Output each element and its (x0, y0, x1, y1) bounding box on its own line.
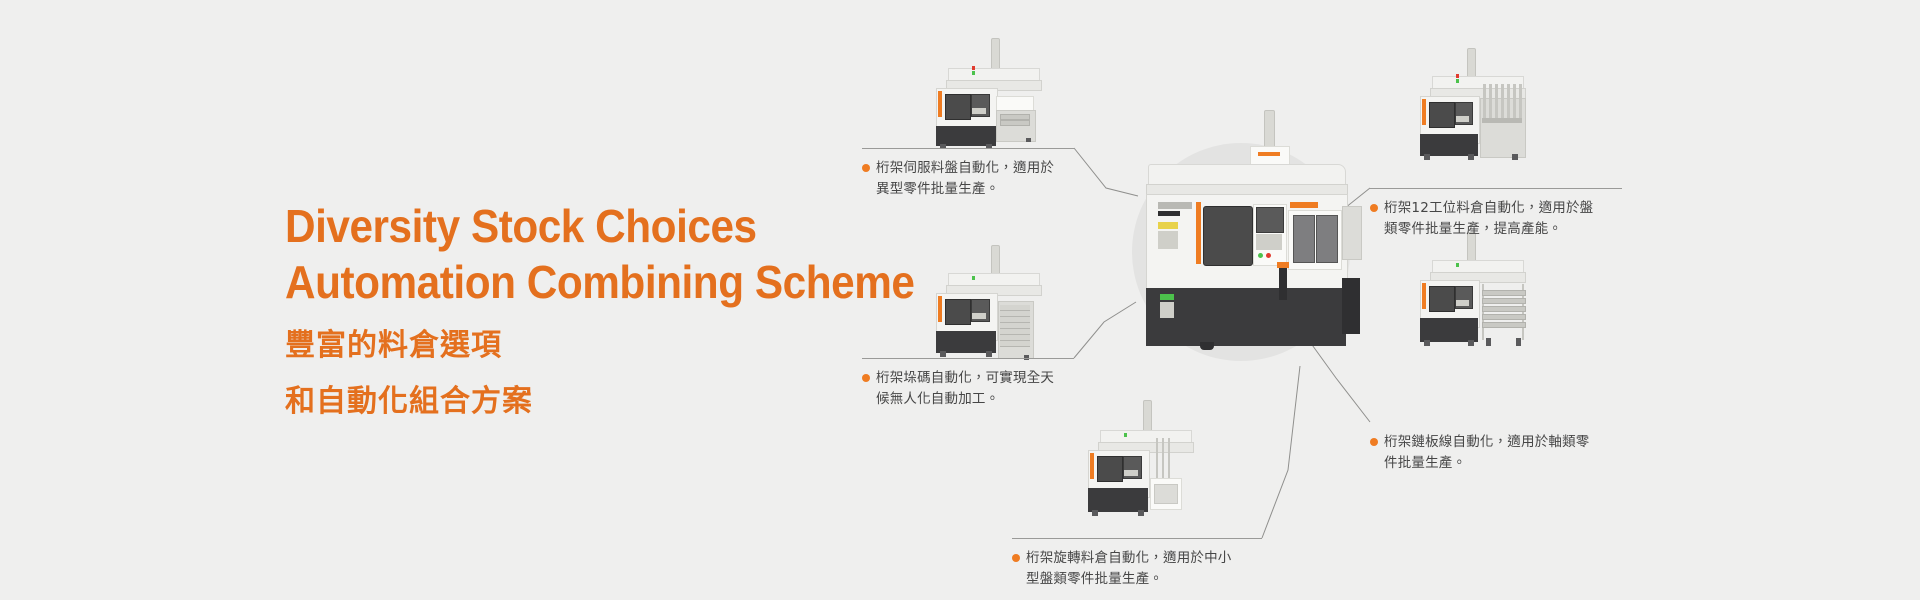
callout-line1: 桁架鏈板線自動化，適用於軸類零 (1384, 434, 1590, 450)
machine-servo-tray (908, 38, 1060, 148)
promo-banner: Diversity Stock Choices Automation Combi… (0, 0, 1920, 600)
callout-rule (1012, 538, 1262, 539)
callout-line2: 類零件批量生產，提高產能。 (1384, 221, 1562, 237)
bullet-dot-icon (862, 164, 870, 172)
page-title-en-line1: Diversity Stock Choices (285, 198, 874, 254)
callout-line2: 件批量生產。 (1384, 455, 1466, 471)
callout-rotary-magazine: 桁架旋轉料倉自動化，適用於中小 型盤類零件批量生產。 (1012, 538, 1262, 590)
bullet-dot-icon (1370, 438, 1378, 446)
page-title-en-line2: Automation Combining Scheme (285, 254, 874, 310)
callout-line2: 候無人化自動加工。 (876, 391, 999, 407)
callout-twelve-station: 桁架12工位料倉自動化，適用於盤 類零件批量生產，提高產能。 (1370, 188, 1622, 240)
callout-line1: 桁架旋轉料倉自動化，適用於中小 (1026, 550, 1232, 566)
machine-center-cnc (1138, 110, 1368, 360)
callout-line1: 桁架伺服料盤自動化，適用於 (876, 160, 1054, 176)
machine-rotary-magazine (1060, 400, 1212, 522)
callout-line2: 異型零件批量生產。 (876, 181, 999, 197)
bullet-dot-icon (1370, 204, 1378, 212)
page-title-zh-line2: 和自動化組合方案 (285, 382, 925, 422)
callout-line2: 型盤類零件批量生產。 (1026, 571, 1163, 587)
callout-line1: 桁架12工位料倉自動化，適用於盤 (1384, 200, 1593, 216)
headline-block: Diversity Stock Choices Automation Combi… (285, 198, 925, 422)
callout-servo-tray: 桁架伺服料盤自動化，適用於 異型零件批量生產。 (862, 148, 1074, 200)
callout-stacking: 桁架垛碼自動化，可實現全天 候無人化自動加工。 (862, 358, 1074, 410)
callout-rule (862, 358, 1074, 359)
machine-twelve-station (1412, 48, 1564, 166)
page-title-zh-line1: 豐富的料倉選項 (285, 326, 925, 366)
callout-rule (862, 148, 1074, 149)
bullet-dot-icon (1012, 554, 1020, 562)
bullet-dot-icon (862, 374, 870, 382)
machine-chain-conveyor (1412, 232, 1564, 354)
callout-rule (1370, 188, 1622, 189)
callout-line1: 桁架垛碼自動化，可實現全天 (876, 370, 1054, 386)
callout-chain-conveyor: 桁架鏈板線自動化，適用於軸類零 件批量生產。 (1370, 422, 1610, 474)
machine-stacking (908, 245, 1060, 363)
